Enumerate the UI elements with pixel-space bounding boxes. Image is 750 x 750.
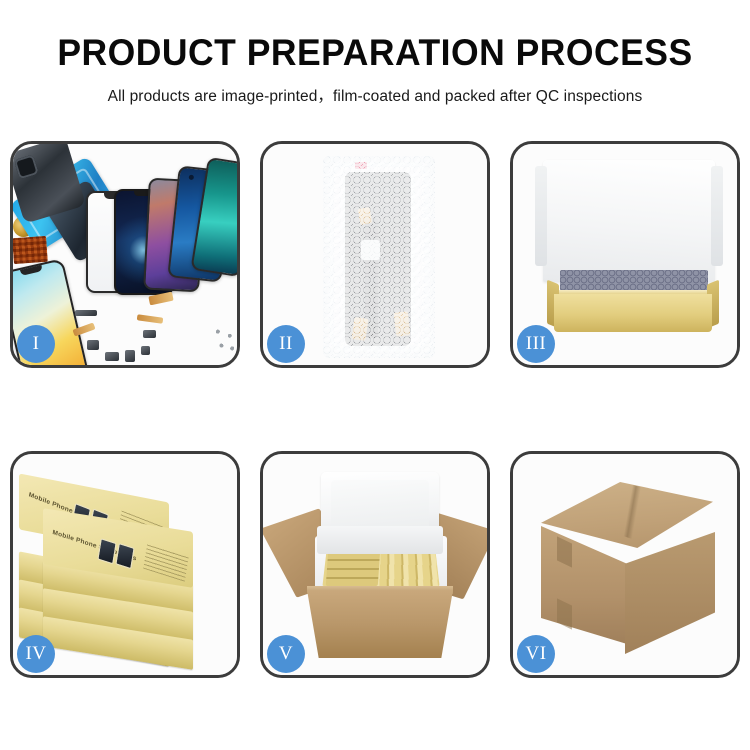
step-badge-6: VI [517,635,555,673]
white-foam-lid [543,160,715,282]
bubble-wrap-bag [323,156,435,358]
process-step-panel-6[interactable]: VI [510,451,740,678]
step-badge-4: IV [17,635,55,673]
step-badge-2: II [267,325,305,363]
page-title: PRODUCT PREPARATION PROCESS [15,34,735,73]
gold-boxes-contents-left [326,550,381,586]
gold-box-front [554,294,712,332]
process-step-grid: I II III [10,141,740,678]
box-artwork-screen [115,543,134,569]
process-step-panel-2[interactable]: II [260,141,490,368]
process-step-panel-5[interactable]: V [260,451,490,678]
foam-box-rim [317,526,443,554]
gold-contact-c [394,311,410,336]
flex-cable-part [137,314,164,324]
small-chip-part [141,346,150,355]
copper-mesh-board [13,236,48,264]
pink-label-sticker [355,162,367,169]
process-step-panel-1[interactable]: I [10,141,240,368]
process-step-panel-3[interactable]: III [510,141,740,368]
process-step-panel-4[interactable]: Mobile Phone Spare Parts Mobile Phone Sp… [10,451,240,678]
screws-group [213,326,237,354]
connector-part [361,240,380,260]
box-artwork-screen [97,538,116,564]
page-header: PRODUCT PREPARATION PROCESS All products… [0,0,750,106]
small-chip-part [87,340,99,350]
gold-contact-a [358,207,373,225]
carton-face-left [541,526,627,644]
small-chip-part [125,350,135,362]
step-badge-5: V [267,635,305,673]
page-subtitle: All products are image-printed，film-coat… [0,84,750,106]
step-badge-3: III [517,325,555,363]
small-chip-part [105,352,119,361]
box-spec-lines [143,544,189,582]
carton-front-wall [307,590,453,658]
carton-face-right [625,532,715,654]
small-chip-part [75,310,97,316]
step-badge-1: I [17,325,55,363]
small-chip-part [143,330,156,338]
